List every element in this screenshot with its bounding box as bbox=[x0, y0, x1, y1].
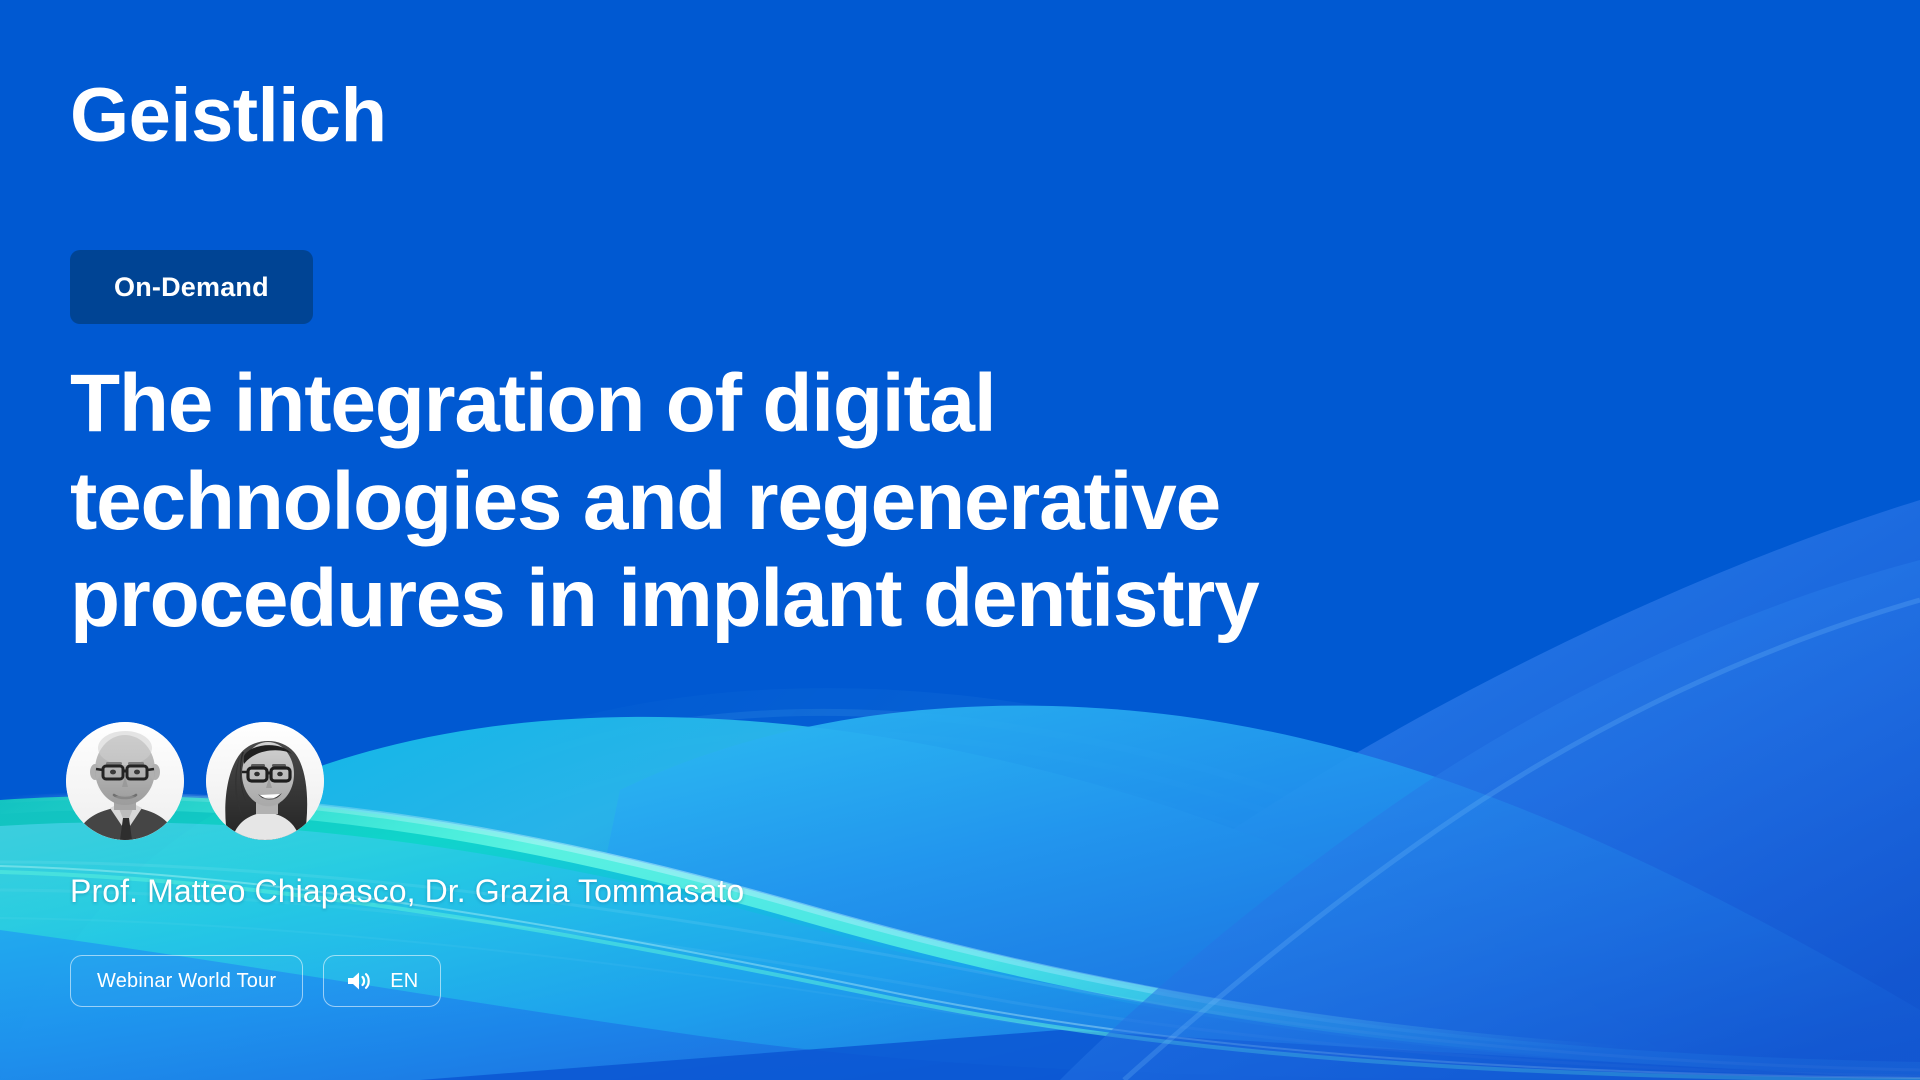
webinar-promo-banner: Geistlich On-Demand The integration of d… bbox=[0, 0, 1920, 1080]
language-tag[interactable]: EN bbox=[323, 955, 441, 1007]
status-badge-label: On-Demand bbox=[114, 272, 269, 303]
brand-logo: Geistlich bbox=[70, 78, 387, 154]
avatar-grazia-tommasato bbox=[206, 722, 324, 840]
speaker-icon bbox=[346, 970, 372, 992]
avatar-matteo-chiapasco bbox=[66, 722, 184, 840]
presenter-avatars bbox=[66, 722, 346, 840]
webinar-series-tag[interactable]: Webinar World Tour bbox=[70, 955, 303, 1007]
language-tag-label: EN bbox=[390, 970, 418, 993]
page-title: The integration of digital technologies … bbox=[70, 355, 1710, 648]
status-badge: On-Demand bbox=[70, 250, 313, 324]
page-title-line-1: The integration of digital bbox=[70, 355, 1710, 453]
page-title-line-2: technologies and regenerative bbox=[70, 453, 1710, 551]
page-title-line-3: procedures in implant dentistry bbox=[70, 550, 1710, 648]
presenter-names: Prof. Matteo Chiapasco, Dr. Grazia Tomma… bbox=[70, 873, 744, 910]
tag-row: Webinar World Tour EN bbox=[70, 955, 441, 1007]
webinar-series-tag-label: Webinar World Tour bbox=[97, 970, 276, 993]
